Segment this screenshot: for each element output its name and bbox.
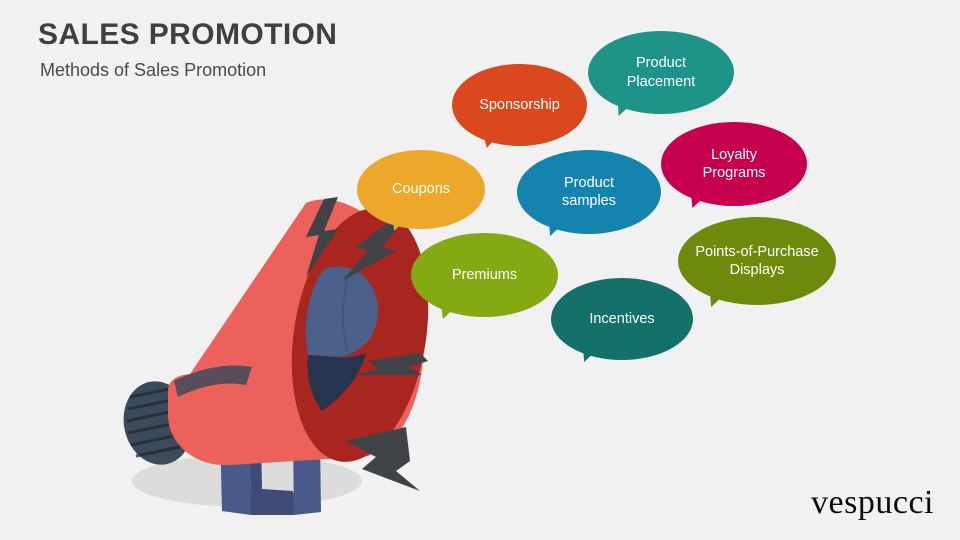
- speech-bubble-label: Incentives: [589, 310, 654, 328]
- speech-bubble-tail: [427, 292, 471, 319]
- speech-bubble-premiums[interactable]: Premiums: [411, 233, 558, 317]
- speech-bubble-label: Premiums: [452, 266, 517, 284]
- speech-bubble-product-samples[interactable]: Product samples: [517, 150, 661, 234]
- speech-bubble-product-placement[interactable]: Product Placement: [588, 31, 734, 114]
- slide-canvas: SALES PROMOTION Methods of Sales Promoti…: [0, 0, 960, 540]
- page-subtitle: Methods of Sales Promotion: [40, 60, 266, 81]
- speech-bubble-points-of-purchase-displays[interactable]: Points-of-Purchase Displays: [678, 217, 836, 305]
- speech-bubble-label: Sponsorship: [479, 96, 560, 114]
- speech-bubble-coupons[interactable]: Coupons: [357, 150, 485, 229]
- speech-bubble-tail: [676, 181, 721, 208]
- speech-bubble-tail: [472, 122, 510, 148]
- megaphone-illustration: [110, 185, 470, 515]
- speech-bubble-tail: [379, 205, 421, 231]
- speech-bubble-tail: [534, 208, 580, 236]
- speech-bubble-label: Loyalty Programs: [703, 146, 766, 182]
- speech-bubble-label: Product Placement: [627, 54, 696, 90]
- brand-logo: vespucci: [811, 484, 934, 522]
- page-title: SALES PROMOTION: [38, 18, 337, 52]
- speech-bubble-sponsorship[interactable]: Sponsorship: [452, 64, 587, 146]
- speech-bubble-incentives[interactable]: Incentives: [551, 278, 693, 360]
- speech-bubble-label: Points-of-Purchase Displays: [695, 243, 818, 279]
- speech-bubble-tail: [603, 88, 650, 116]
- speech-bubble-label: Product samples: [562, 174, 616, 210]
- speech-bubble-tail: [695, 279, 741, 307]
- speech-bubble-loyalty-programs[interactable]: Loyalty Programs: [661, 122, 807, 206]
- speech-bubble-tail: [568, 334, 614, 362]
- speech-bubble-label: Coupons: [392, 180, 450, 198]
